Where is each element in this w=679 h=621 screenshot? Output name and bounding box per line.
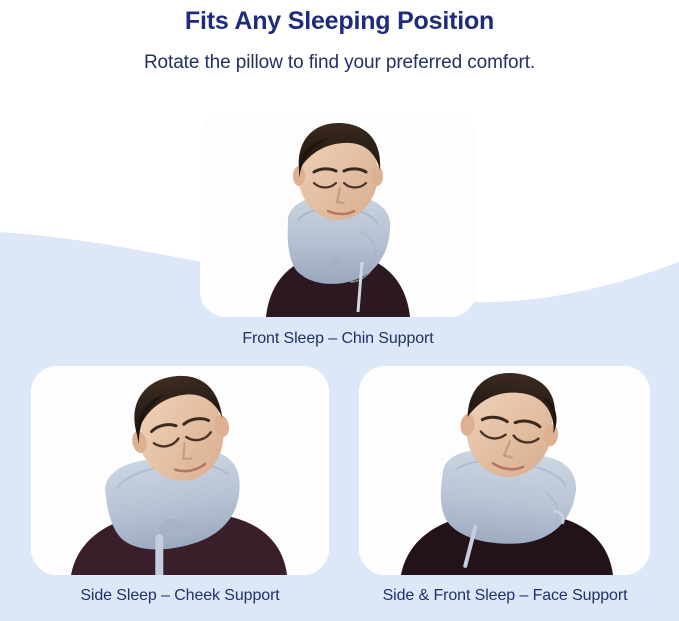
caption-side-sleep: Side Sleep – Cheek Support xyxy=(16,585,344,607)
promo-panel: Fits Any Sleeping Position Rotate the pi… xyxy=(0,0,679,621)
card-front-sleep[interactable] xyxy=(200,112,476,317)
caption-side-front-sleep: Side & Front Sleep – Face Support xyxy=(348,585,662,607)
header: Fits Any Sleeping Position Rotate the pi… xyxy=(0,0,679,76)
page-subtitle: Rotate the pillow to find your preferred… xyxy=(0,38,679,76)
card-side-front-sleep[interactable] xyxy=(359,366,650,575)
photo-side-front-sleep xyxy=(359,366,650,575)
photo-front-sleep xyxy=(200,112,476,317)
card-side-sleep[interactable] xyxy=(31,366,329,575)
caption-front-sleep: Front Sleep – Chin Support xyxy=(200,328,476,350)
page-title: Fits Any Sleeping Position xyxy=(0,0,679,38)
photo-side-sleep xyxy=(31,366,329,575)
